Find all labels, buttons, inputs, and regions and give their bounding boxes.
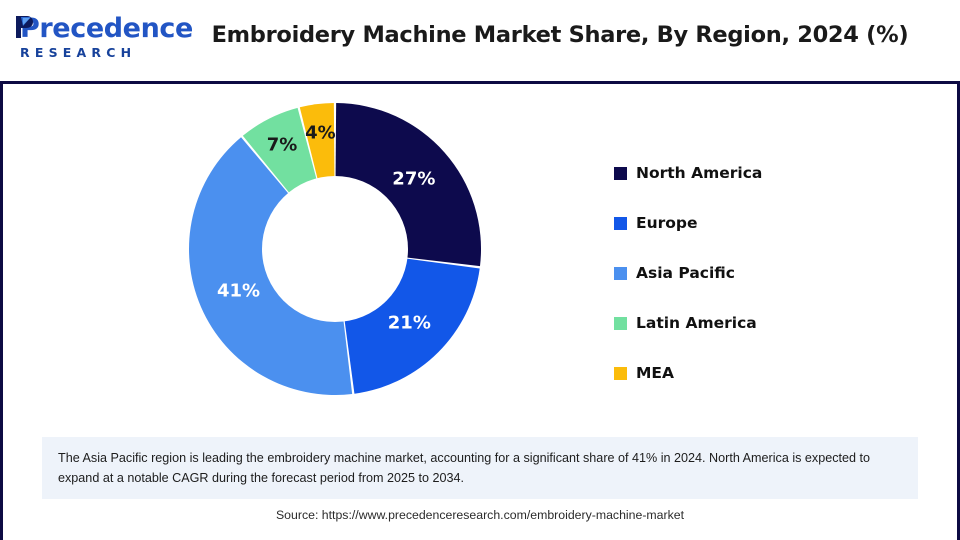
insight-text: The Asia Pacific region is leading the e… — [58, 448, 902, 488]
legend-item-label: Latin America — [636, 314, 757, 332]
donut-chart: 27%21%41%7%4% — [189, 103, 481, 395]
insight-callout: The Asia Pacific region is leading the e… — [42, 437, 918, 499]
slice-value-label: 27% — [392, 169, 435, 190]
legend-item-label: Asia Pacific — [636, 264, 735, 282]
slice-value-label: 21% — [388, 313, 431, 334]
source-attribution: Source: https://www.precedenceresearch.c… — [0, 508, 960, 522]
legend-item-label: Europe — [636, 214, 698, 232]
chart-legend: North AmericaEuropeAsia PacificLatin Ame… — [614, 148, 894, 398]
donut-hole — [262, 176, 408, 322]
legend-item-europe[interactable]: Europe — [614, 198, 894, 248]
plot-area: 27%21%41%7%4% North AmericaEuropeAsia Pa… — [0, 84, 960, 432]
legend-swatch-icon — [614, 167, 627, 180]
logo-wordmark: Precedence — [20, 14, 193, 44]
donut-chart-svg — [189, 103, 481, 395]
slice-value-label: 7% — [267, 134, 298, 155]
legend-swatch-icon — [614, 267, 627, 280]
legend-item-mea[interactable]: MEA — [614, 348, 894, 398]
legend-item-north-america[interactable]: North America — [614, 148, 894, 198]
legend-item-asia-pacific[interactable]: Asia Pacific — [614, 248, 894, 298]
page-title: Embroidery Machine Market Share, By Regi… — [190, 22, 930, 48]
legend-item-label: MEA — [636, 364, 674, 382]
logo-subtext: RESEARCH — [20, 46, 136, 60]
precedence-research-logo: Precedence RESEARCH — [14, 14, 166, 66]
legend-swatch-icon — [614, 317, 627, 330]
legend-swatch-icon — [614, 367, 627, 380]
card-header: Precedence RESEARCH Embroidery Machine M… — [0, 0, 960, 82]
slice-value-label: 41% — [217, 280, 260, 301]
legend-item-latin-america[interactable]: Latin America — [614, 298, 894, 348]
legend-swatch-icon — [614, 217, 627, 230]
precedence-p-mark-icon — [14, 15, 34, 39]
slice-value-label: 4% — [305, 123, 336, 144]
legend-item-label: North America — [636, 164, 762, 182]
chart-card: Precedence RESEARCH Embroidery Machine M… — [0, 0, 960, 540]
